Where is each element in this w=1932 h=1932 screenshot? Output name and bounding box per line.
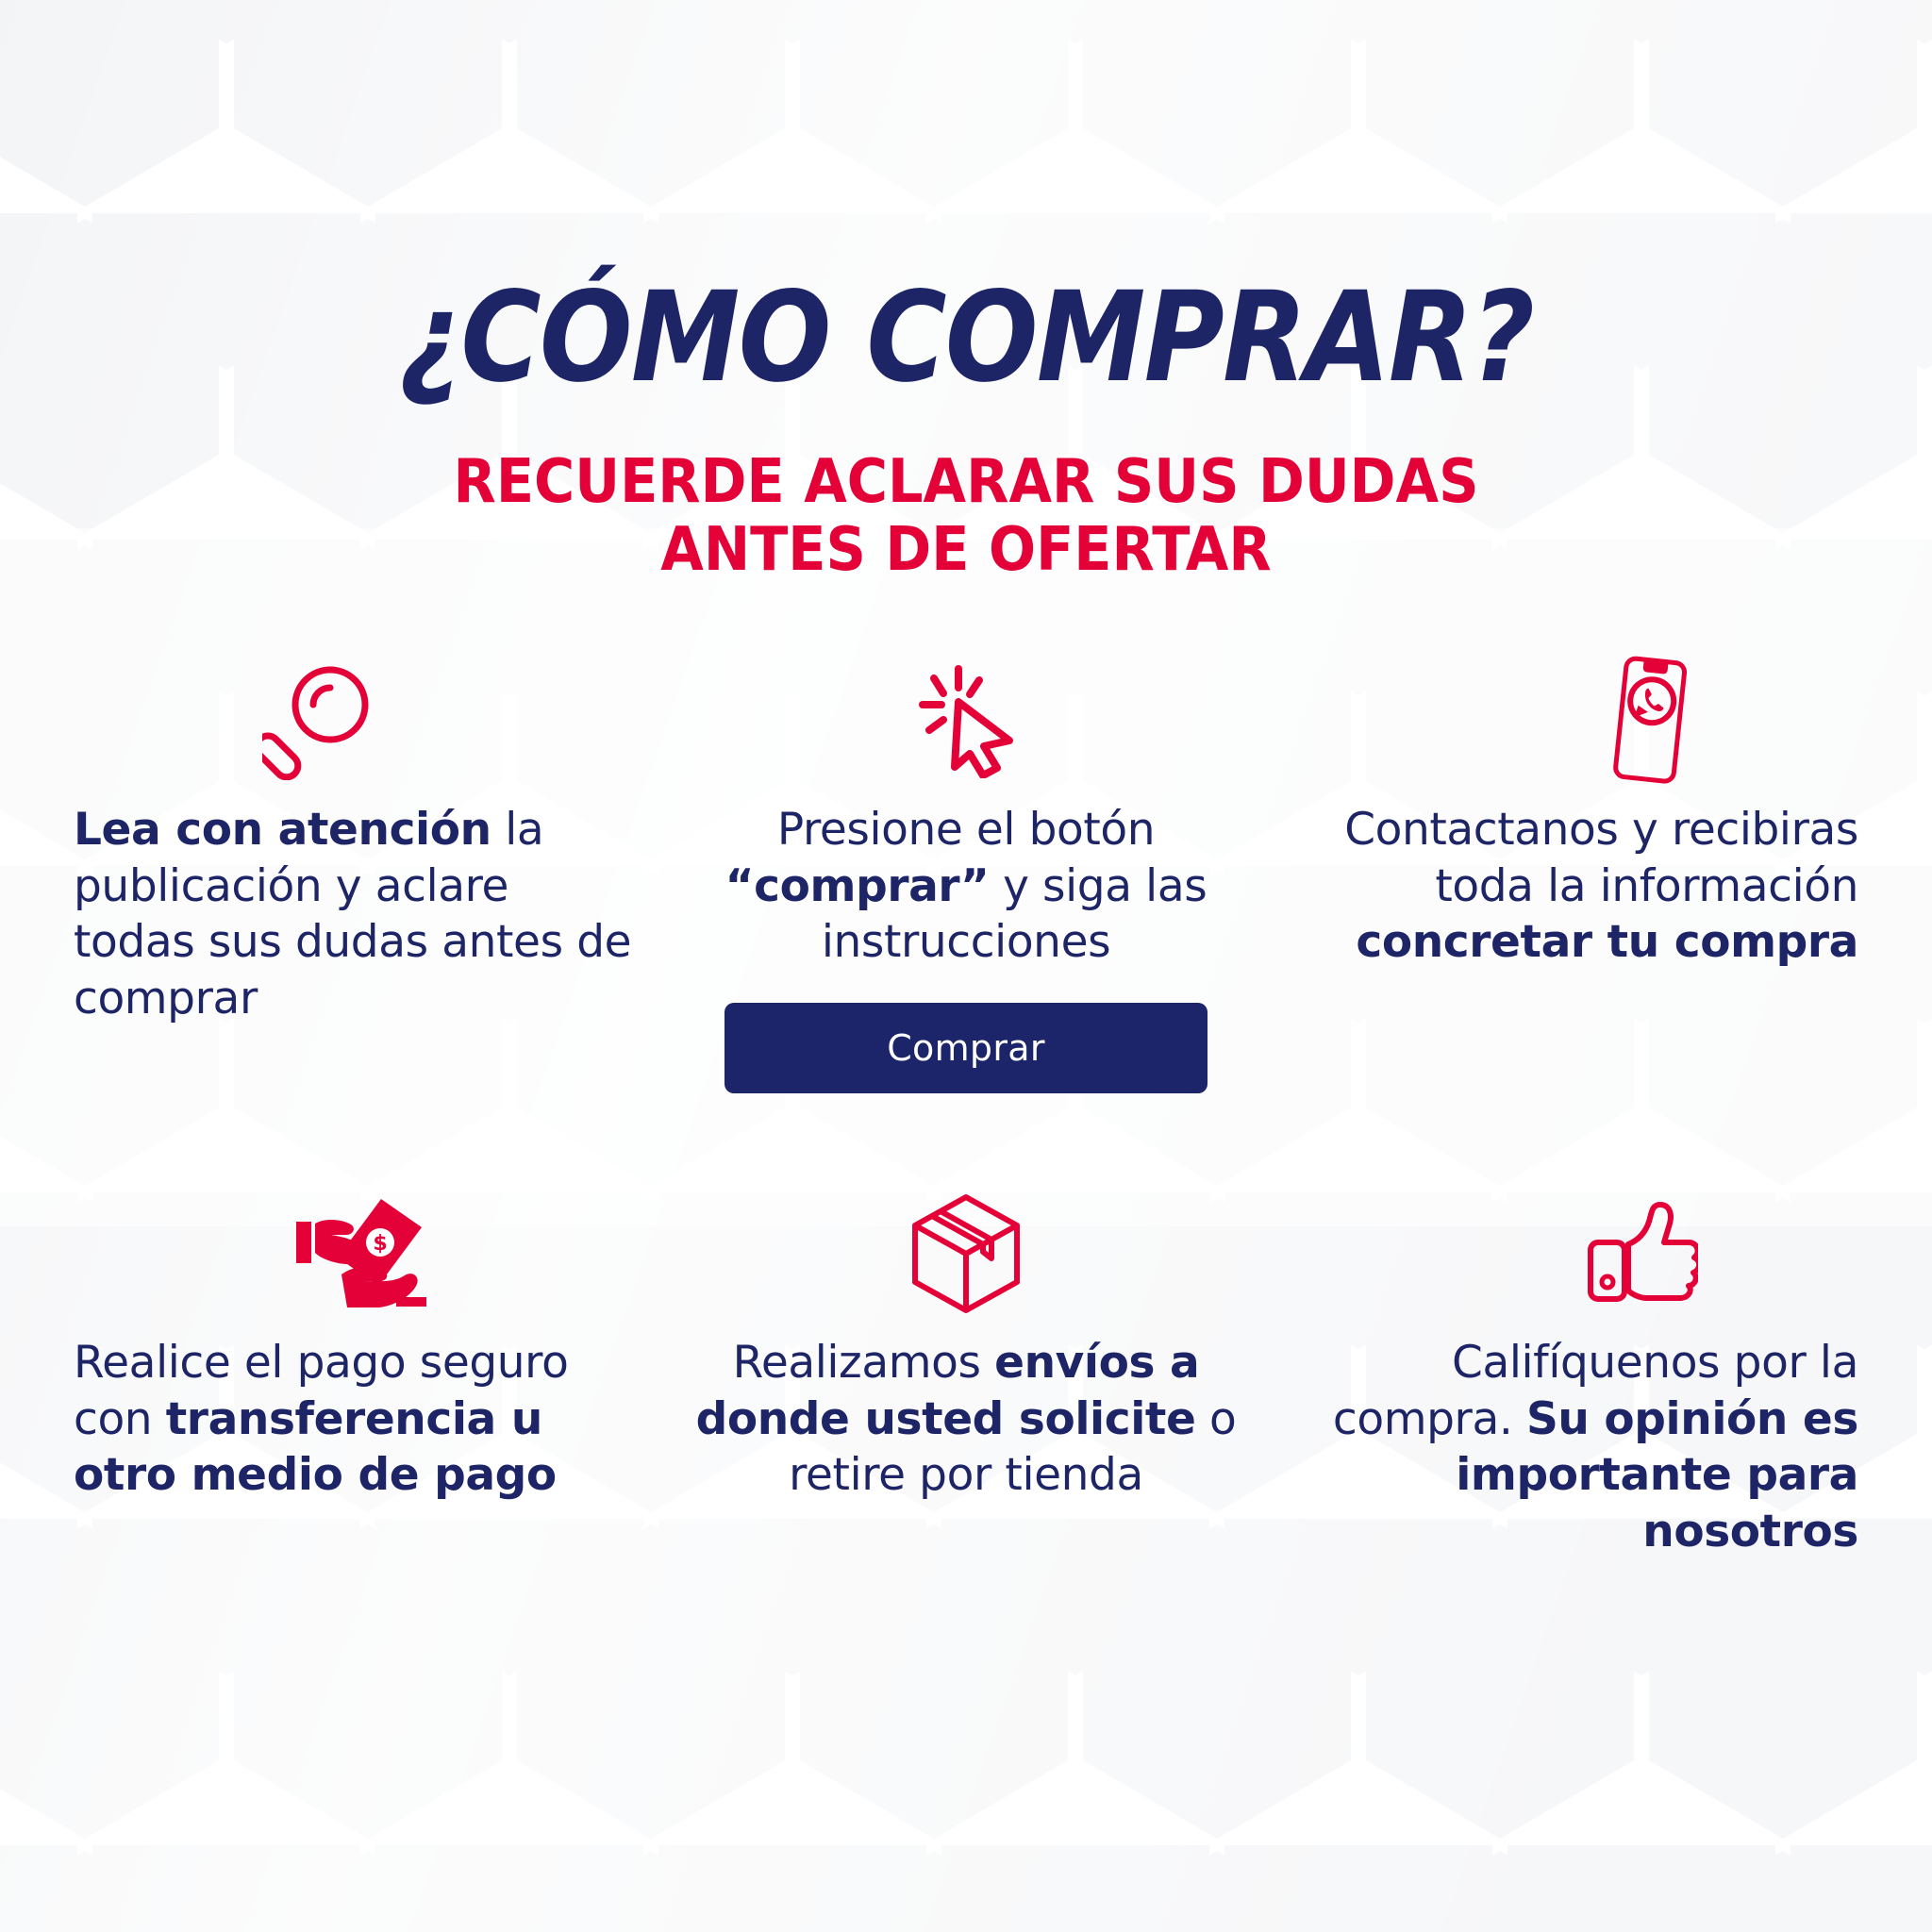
step-3-icon-area [1292,660,1858,781]
step-6-icon-area [1292,1193,1858,1314]
step-1-text-bold: Lea con atención [74,804,491,856]
step-2-icon-area [683,660,1249,781]
click-cursor-icon [911,663,1021,778]
steps-grid: Lea con atención la publicación y aclare… [57,660,1875,1560]
step-3-text: Contactanos y recibiras toda la informac… [1292,802,1858,971]
step-1-text: Lea con atención la publicación y aclare… [74,802,640,1027]
step-2-text: Presione el botón “comprar” y siga las i… [683,802,1249,971]
step-1-icon-area [74,660,640,781]
step-4-text: Realice el pago seguro con transferencia… [74,1335,640,1504]
svg-text:$: $ [373,1232,387,1256]
subtitle-line-2: ANTES DE OFERTAR [77,517,1855,585]
step-4-icon-area: $ [74,1193,640,1314]
step-card-contact-us: Contactanos y recibiras toda la informac… [1275,660,1875,1093]
step-card-shipping: Realizamos envíos a donde usted solicite… [666,1193,1266,1560]
step-6-text: Califíquenos por la compra. Su opinión e… [1292,1335,1858,1560]
header: ¿CÓMO COMPRAR? RECUERDE ACLARAR SUS DUDA… [0,0,1932,584]
step-card-rate-us: Califíquenos por la compra. Su opinión e… [1275,1193,1875,1560]
step-5-icon-area [683,1193,1249,1314]
step-card-secure-payment: $ Realice el pago seguro con transferenc… [57,1193,657,1560]
thumbs-up-icon [1585,1195,1698,1312]
magnifier-icon [262,661,374,780]
subtitle-line-1: RECUERDE ACLARAR SUS DUDAS [453,447,1478,517]
infographic-page: ¿CÓMO COMPRAR? RECUERDE ACLARAR SUS DUDA… [0,0,1932,1932]
package-box-icon [908,1191,1024,1316]
step-2-text-bold: “comprar” [725,860,990,912]
buy-button[interactable]: Comprar [724,1003,1207,1093]
step-3-text-bold: concretar tu compra [1356,916,1858,968]
step-3-text-pre: Contactanos y recibiras toda la informac… [1344,804,1858,912]
step-card-read-attentively: Lea con atención la publicación y aclare… [57,660,657,1093]
money-hands-icon: $ [291,1195,430,1312]
step-2-text-pre: Presione el botón [777,804,1155,856]
step-card-press-buy: Presione el botón “comprar” y siga las i… [666,660,1266,1093]
step-5-text: Realizamos envíos a donde usted solicite… [683,1335,1249,1504]
step-5-text-pre: Realizamos [733,1337,994,1389]
page-title: ¿CÓMO COMPRAR? [116,275,1816,400]
whatsapp-phone-icon [1600,655,1698,787]
page-subtitle: RECUERDE ACLARAR SUS DUDAS ANTES DE OFER… [77,449,1855,584]
